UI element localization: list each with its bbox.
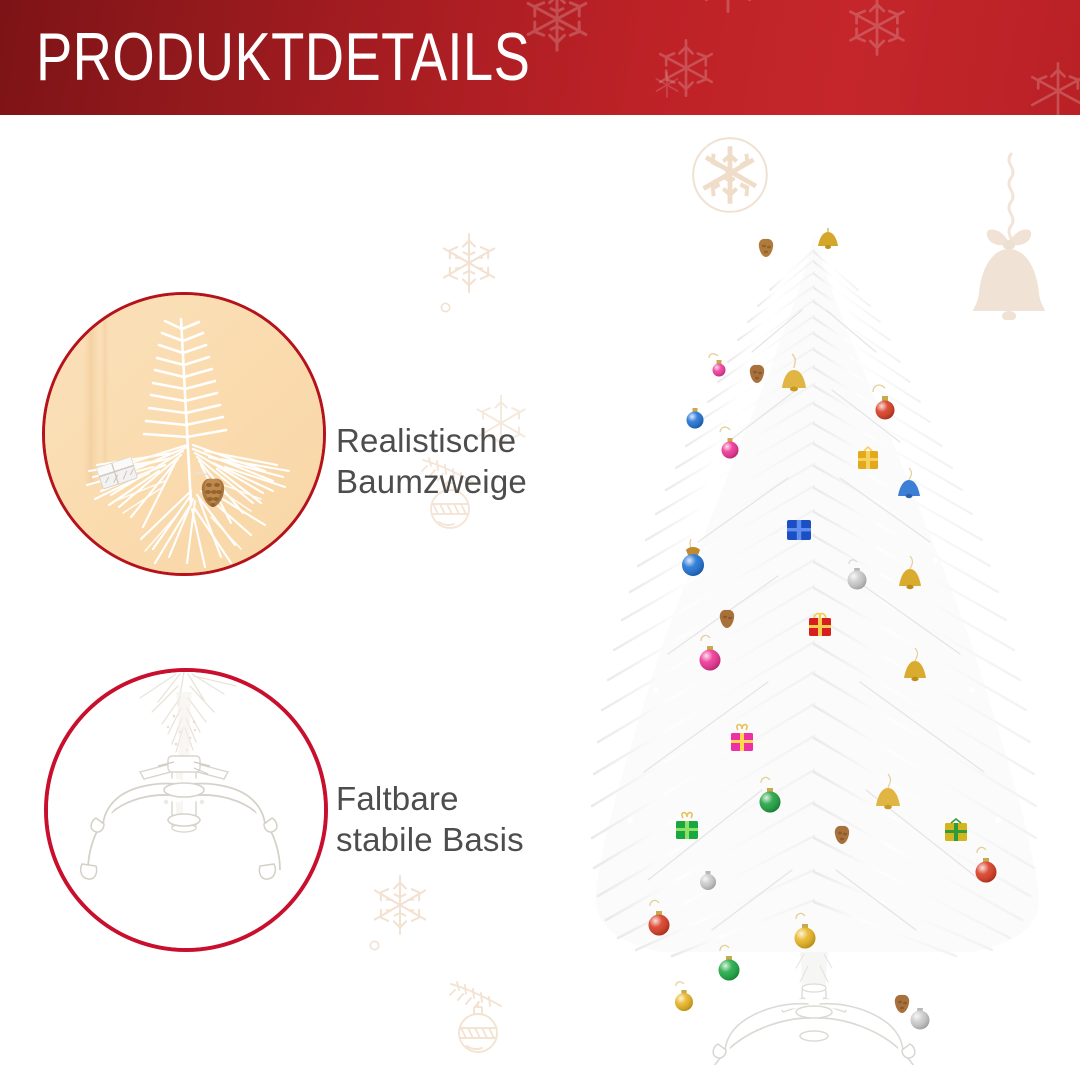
- product-photo-christmas-tree: [552, 130, 1080, 1065]
- header-banner: PRODUKTDETAILS: [0, 0, 1080, 115]
- feature-circle-stand: [44, 668, 328, 952]
- snowflake-icon: [520, 0, 594, 56]
- tree-branch-closeup: [45, 295, 323, 573]
- feature-label-branches: Realistische Baumzweige: [336, 420, 527, 502]
- snowflake-icon: [843, 0, 911, 60]
- feature-label-stand: Faltbare stabile Basis: [336, 778, 524, 860]
- snowflake-icon: [652, 70, 682, 100]
- snowflake-icon: [367, 872, 433, 938]
- snowflake-icon: [700, 0, 756, 16]
- snowflake-icon: [436, 230, 502, 296]
- product-details-infographic: PRODUKTDETAILS: [0, 0, 1080, 1080]
- snowflake-icon: [1025, 58, 1080, 115]
- dot-icon: [369, 940, 380, 951]
- dot-icon: [440, 302, 451, 313]
- feature-circle-branches: [42, 292, 326, 576]
- folding-tree-stand: [48, 672, 324, 948]
- bauble-sprig-icon: [443, 976, 515, 1054]
- page-title: PRODUKTDETAILS: [36, 17, 530, 97]
